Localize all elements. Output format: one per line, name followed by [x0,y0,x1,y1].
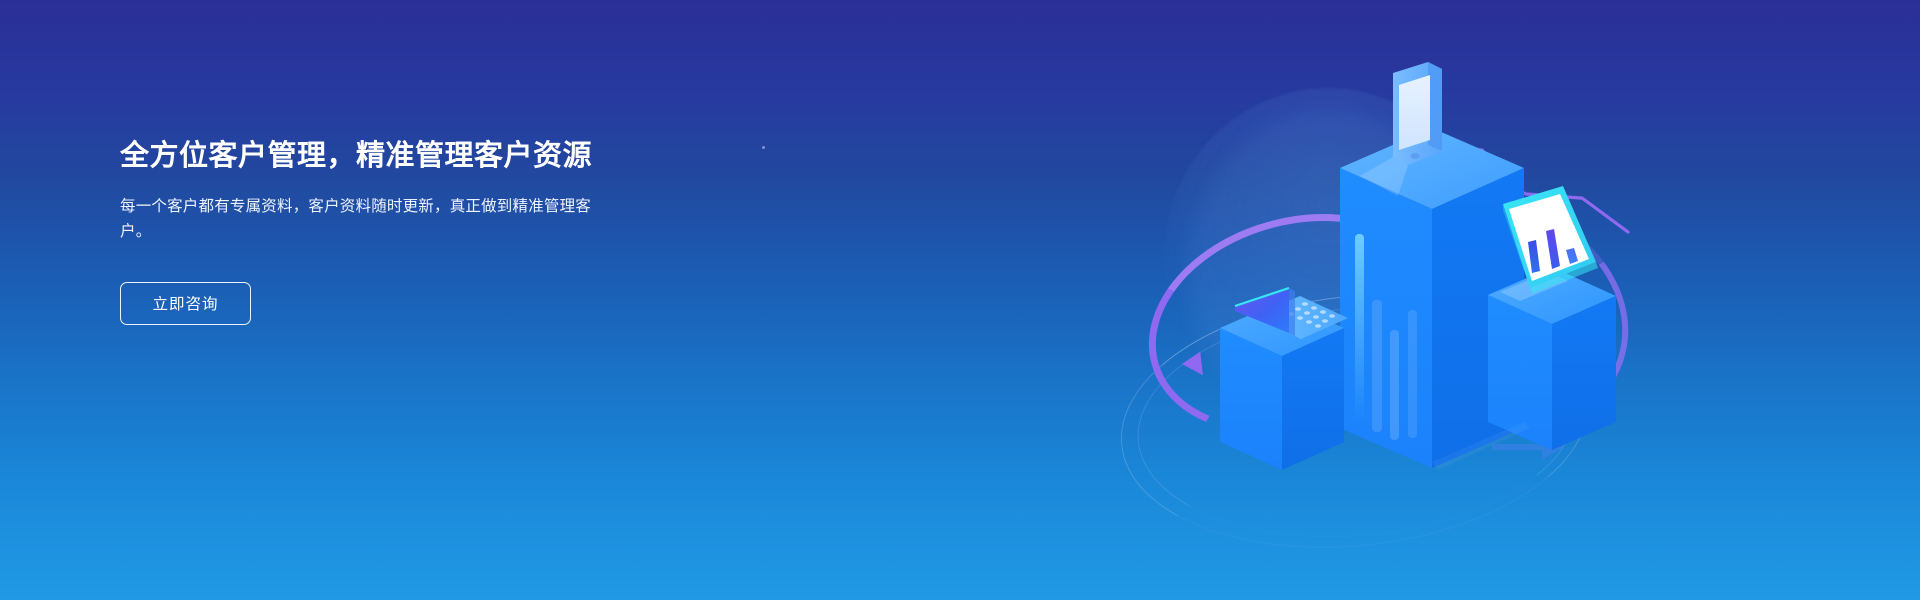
page-title: 全方位客户管理，精准管理客户资源 [120,138,740,176]
hero-subcopy: 每一个客户都有专属资料，客户资料随时更新，真正做到精准管理客户。 [120,194,605,244]
consult-now-button[interactable]: 立即咨询 [120,282,251,325]
hero-banner: 全方位客户管理，精准管理客户资源 每一个客户都有专属资料，客户资料随时更新，真正… [0,0,1920,600]
hero-content: 全方位客户管理，精准管理客户资源 每一个客户都有专属资料，客户资料随时更新，真正… [120,138,740,325]
right-pedestal [1488,267,1616,450]
